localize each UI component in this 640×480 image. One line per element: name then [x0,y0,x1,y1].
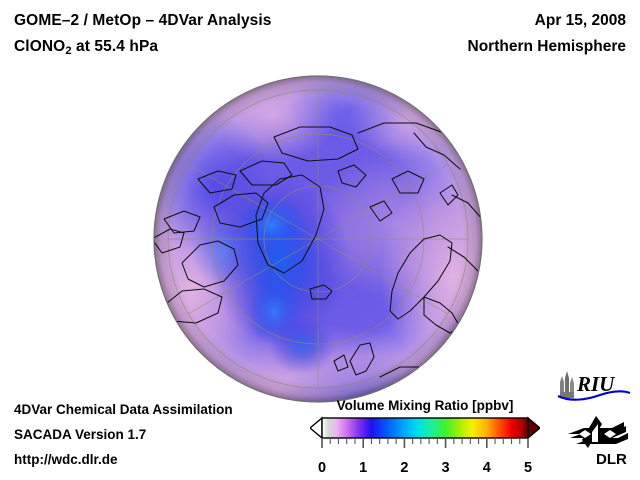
colorbar-low-extend [310,418,322,438]
colorbar-tick-label: 4 [483,460,491,476]
figure-title: GOME–2 / MetOp – 4DVar Analysis [14,12,272,30]
pressure-level-label: at 55.4 hPa [72,38,159,55]
colorbar-title: Volume Mixing Ratio [ppbv] [310,398,540,413]
colorbar-tick-label: 1 [359,460,367,476]
figure-canvas: GOME–2 / MetOp – 4DVar Analysis ClONO2 a… [0,0,640,480]
species-name: ClONO [14,38,65,55]
colorbar-svg [310,416,540,460]
footer-line-url[interactable]: http://wdc.dlr.de [14,452,118,467]
footer-line-version: SACADA Version 1.7 [14,427,146,442]
dlr-mark-icon [568,416,628,448]
species-subscript: 2 [65,45,71,57]
footer-line-assimilation: 4DVar Chemical Data Assimilation [14,402,233,417]
colorbar-tick-label: 3 [442,460,450,476]
riu-tower-icon [560,371,574,398]
colorbar-ticks [322,438,528,448]
colorbar: Volume Mixing Ratio [ppbv] 012345 [310,398,540,480]
globe-map [152,75,484,405]
colorbar-tick-label: 5 [524,460,532,476]
colorbar-high-extend [528,418,540,438]
date-label: Apr 15, 2008 [535,12,626,30]
riu-logo: RIU [556,368,632,402]
hemisphere-label: Northern Hemisphere [468,38,626,56]
globe-svg [152,75,484,405]
figure-subtitle: ClONO2 at 55.4 hPa [14,38,158,56]
colorbar-gradient [322,418,528,438]
dlr-logo: DLR [566,414,632,468]
colorbar-tick-label: 0 [318,460,326,476]
dlr-wordmark: DLR [596,451,627,468]
colorbar-tick-labels: 012345 [310,460,540,480]
colorbar-tick-label: 2 [400,460,408,476]
